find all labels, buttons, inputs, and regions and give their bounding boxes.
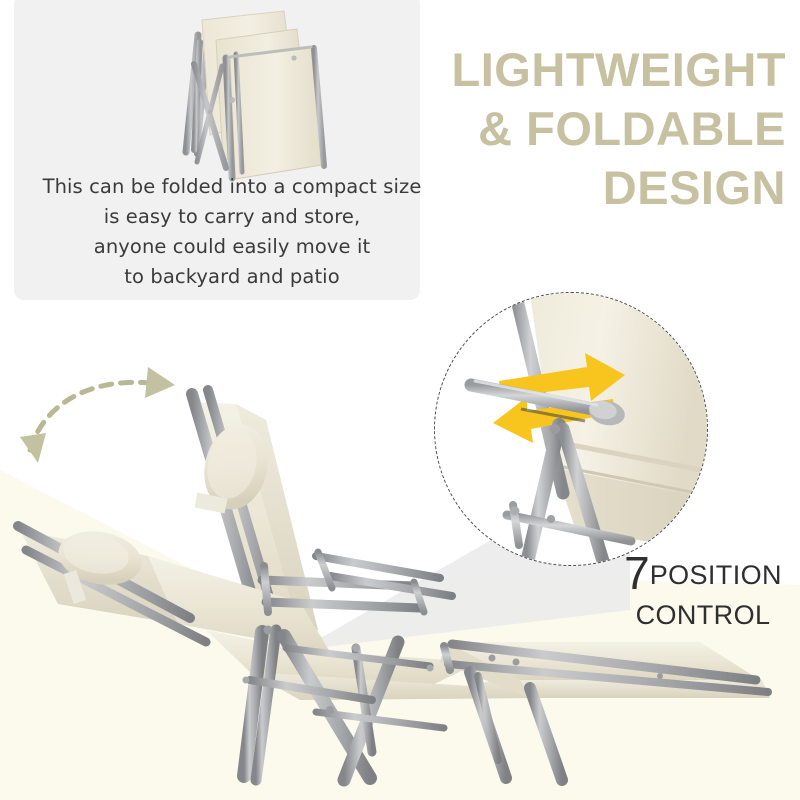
info-text-line-3: anyone could easily move it [32, 232, 432, 262]
reclining-sun-lounger [0, 380, 800, 800]
headline-line-1: LIGHTWEIGHT [266, 40, 786, 99]
infographic-canvas: This can be folded into a compact size i… [0, 0, 800, 800]
info-text-line-4: to backyard and patio [32, 262, 432, 292]
headline-line-2: & FOLDABLE [266, 99, 786, 158]
page-title: LIGHTWEIGHT & FOLDABLE DESIGN [266, 40, 786, 217]
headline-line-3: DESIGN [266, 158, 786, 217]
